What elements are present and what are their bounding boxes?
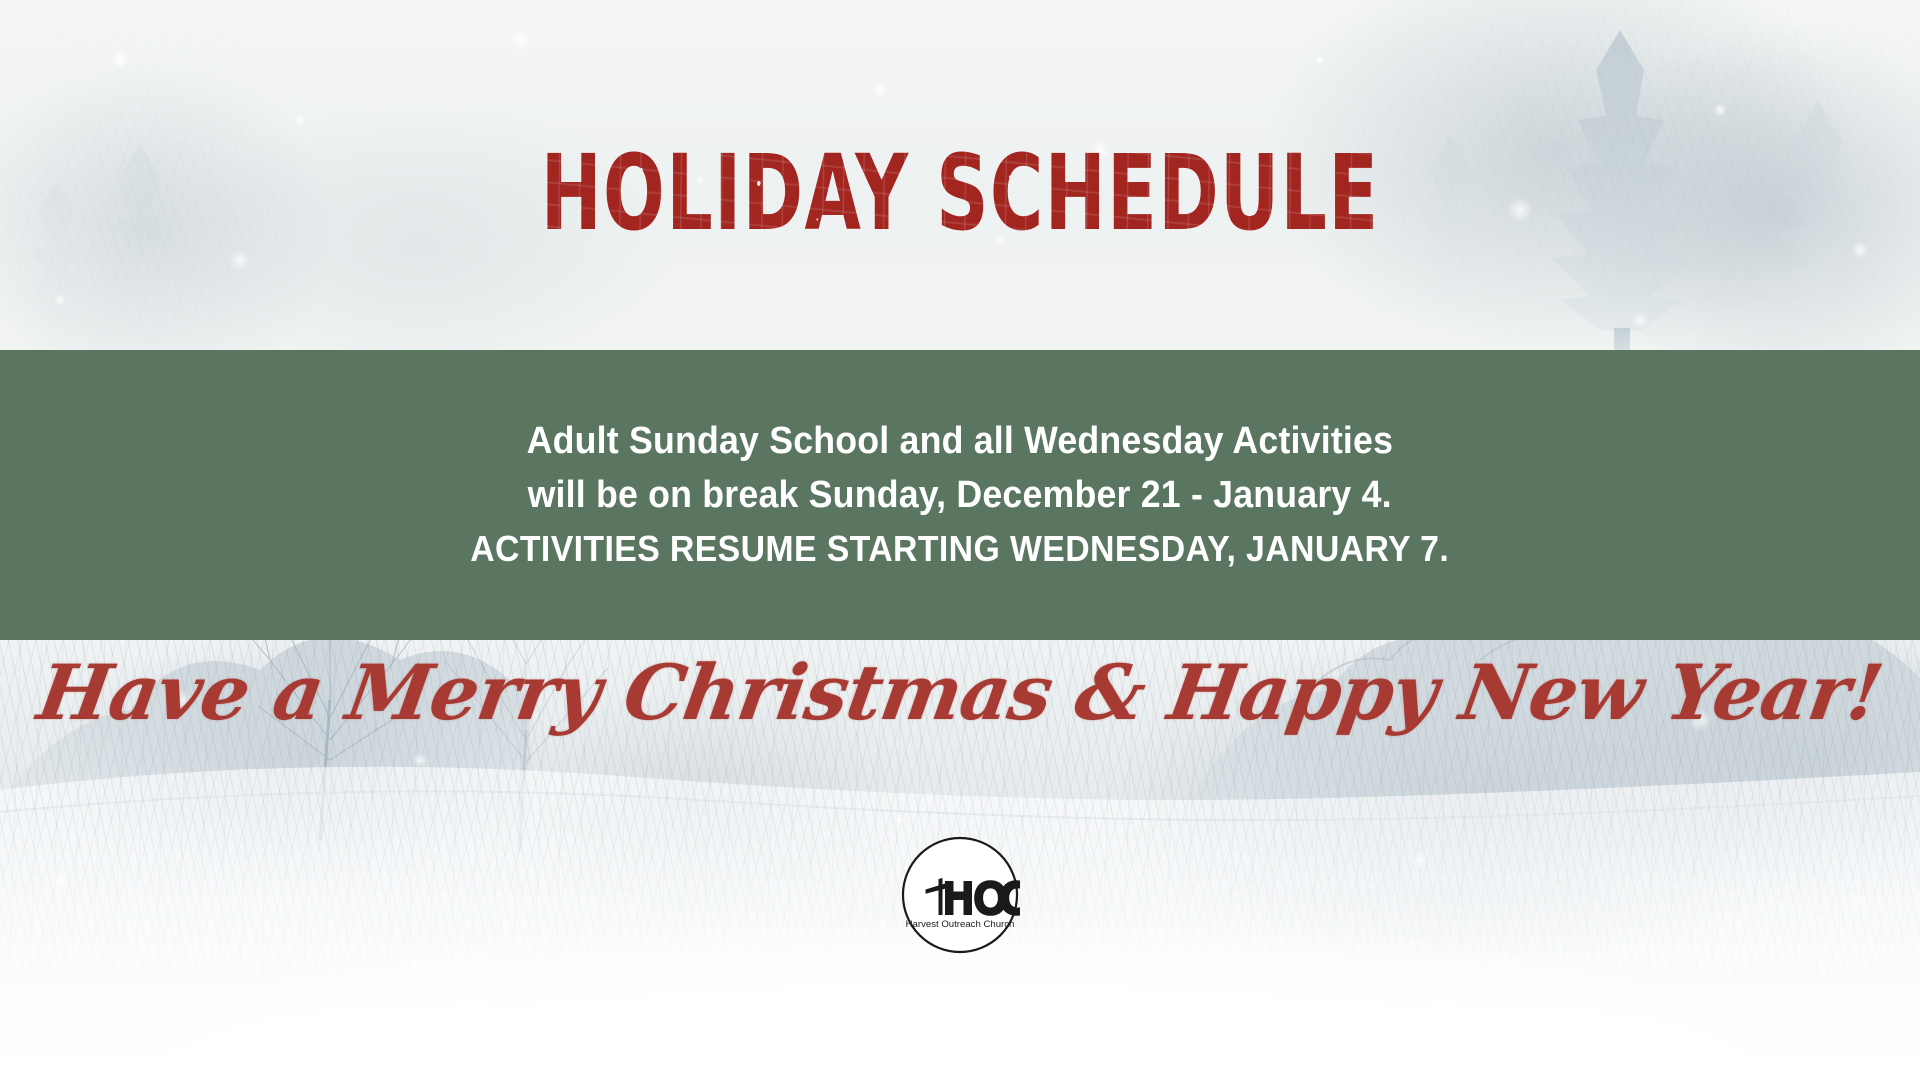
banner-line-3: ACTIVITIES RESUME STARTING WEDNESDAY, JA… [471,523,1450,574]
holiday-schedule-poster: HOLIDAY SCHEDULE Adult Sunday School and… [0,0,1920,1080]
logo-church-name: Harvest Outreach Church [906,919,1015,930]
banner-line-2: will be on break Sunday, December 21 - J… [528,469,1392,523]
greeting-script-text: Have a Merry Christmas & Happy New Year! [0,655,1920,731]
title-container: HOLIDAY SCHEDULE [0,140,1920,246]
page-title: HOLIDAY SCHEDULE [541,140,1380,246]
announcement-banner: Adult Sunday School and all Wednesday Ac… [0,350,1920,640]
hoc-logo: Harvest Outreach Church [900,835,1020,955]
banner-line-1: Adult Sunday School and all Wednesday Ac… [527,415,1393,469]
